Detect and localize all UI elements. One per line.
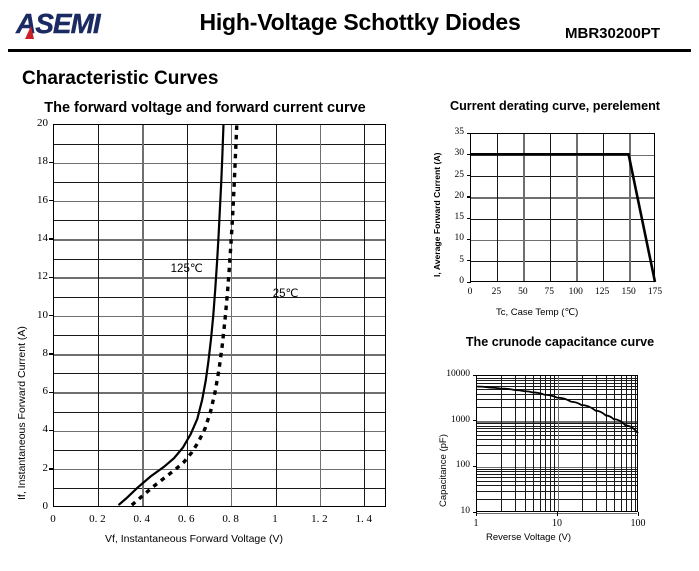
curves-forward xyxy=(53,124,386,507)
x-axis-label-forward: Vf, Instantaneous Forward Voltage (V) xyxy=(105,533,283,545)
part-number: MBR30200PT xyxy=(565,25,660,42)
x-axis-label-derating: Tc, Case Temp (℃) xyxy=(496,307,578,318)
y-tick-label: 5 xyxy=(438,255,464,265)
x-tick-label: 100 xyxy=(623,518,653,529)
y-tick-label: 20 xyxy=(438,191,464,201)
section-heading: Characteristic Curves xyxy=(22,68,218,90)
chart-current-derating: Current derating curve, perelement I, Av… xyxy=(410,95,699,330)
curve-path-capacitance xyxy=(476,387,638,434)
x-tick-label: 0. 2 xyxy=(77,513,117,525)
y-tick-label: 35 xyxy=(438,127,464,137)
chart-forward-voltage-current: The forward voltage and forward current … xyxy=(0,95,400,560)
y-tick-label: 12 xyxy=(0,270,48,282)
y-tick-label: 4 xyxy=(0,423,48,435)
y-tick-label: 2 xyxy=(0,462,48,474)
x-tick-label: 0. 6 xyxy=(166,513,206,525)
y-tick-label: 10 xyxy=(422,506,470,516)
y-tick-label: 10000 xyxy=(422,369,470,379)
y-tick-label: 6 xyxy=(0,385,48,397)
y-tick-label: 18 xyxy=(0,155,48,167)
x-tick-label: 1. 2 xyxy=(299,513,339,525)
x-tick-label: 1 xyxy=(255,513,295,525)
header-divider xyxy=(8,49,691,52)
y-tick-label: 10 xyxy=(438,233,464,243)
x-axis-label-capacitance: Reverse Voltage (V) xyxy=(486,532,571,543)
x-tick-label: 1. 4 xyxy=(344,513,384,525)
x-tick-mark xyxy=(557,512,558,516)
page-header: ASEMI High-Voltage Schottky Diodes MBR30… xyxy=(0,0,699,50)
logo-accent-triangle-icon xyxy=(25,26,34,39)
y-tick-label: 30 xyxy=(438,148,464,158)
y-tick-label: 100 xyxy=(422,460,470,470)
y-tick-label: 8 xyxy=(0,347,48,359)
y-tick-label: 16 xyxy=(0,194,48,206)
chart-junction-capacitance: The crunode capacitance curve Capacitanc… xyxy=(410,330,699,571)
chart-title-capacitance: The crunode capacitance curve xyxy=(430,335,690,349)
curve-derating xyxy=(470,133,655,282)
y-tick-label: 25 xyxy=(438,170,464,180)
asemi-logo: ASEMI xyxy=(16,8,131,40)
page-title: High-Voltage Schottky Diodes xyxy=(160,9,560,36)
x-tick-label: 1 xyxy=(461,518,491,529)
y-tick-label: 0 xyxy=(0,500,48,512)
curve-path-derating xyxy=(470,154,655,282)
y-axis-label-capacitance: Capacitance (pF) xyxy=(438,434,449,507)
y-tick-label: 1000 xyxy=(422,415,470,425)
curve-label-125c: 125℃ xyxy=(171,261,203,275)
chart-title-forward: The forward voltage and forward current … xyxy=(30,100,380,116)
x-tick-label: 0. 8 xyxy=(211,513,251,525)
y-tick-label: 10 xyxy=(0,309,48,321)
curve-label-25c: 25℃ xyxy=(273,286,299,300)
y-tick-label: 20 xyxy=(0,117,48,129)
y-tick-label: 0 xyxy=(438,276,464,286)
x-tick-mark xyxy=(638,512,639,516)
x-tick-mark xyxy=(476,512,477,516)
chart-title-derating: Current derating curve, perelement xyxy=(415,99,695,113)
y-tick-label: 15 xyxy=(438,212,464,222)
x-tick-label: 0. 4 xyxy=(122,513,162,525)
x-tick-label: 0 xyxy=(33,513,73,525)
curve-capacitance xyxy=(476,375,638,512)
y-tick-label: 14 xyxy=(0,232,48,244)
x-tick-label: 175 xyxy=(640,287,670,297)
x-tick-label: 10 xyxy=(542,518,572,529)
curve-125c xyxy=(118,124,223,505)
